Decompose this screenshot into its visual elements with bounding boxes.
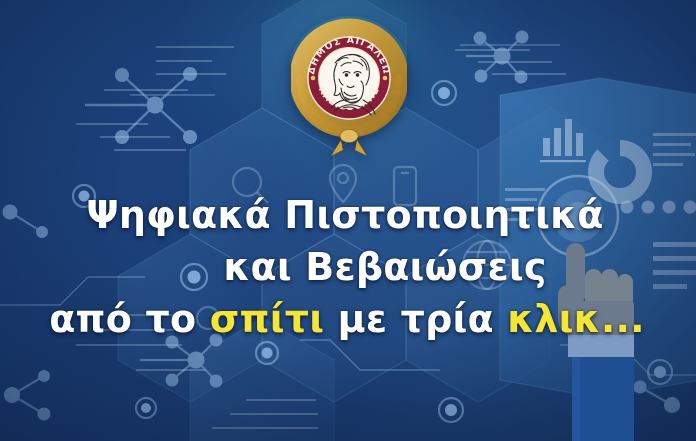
headline-line-1: Ψηφιακά Πιστοποιητικά xyxy=(0,196,696,234)
municipality-seal: ΔΗΜΟΣ ΑΙΓΑΛΕΩ ΚΛΕΙΣΘΕΝΗΣ xyxy=(291,16,407,158)
headline-line3-part1: από το xyxy=(49,297,210,341)
headline-line-3: από το σπίτι με τρία κλικ... xyxy=(0,300,696,338)
headline-accent-klik: κλικ... xyxy=(507,297,645,341)
headline-line-2: και Βεβαιώσεις xyxy=(0,248,696,286)
headline-accent-spiti: σπίτι xyxy=(210,297,325,341)
headline-line3-part2: με τρία xyxy=(324,297,507,341)
digital-certificates-banner: ΔΗΜΟΣ ΑΙΓΑΛΕΩ ΚΛΕΙΣΘΕΝΗΣ xyxy=(0,0,696,441)
headline-block: Ψηφιακά Πιστοποιητικά και Βεβαιώσεις από… xyxy=(0,196,696,338)
